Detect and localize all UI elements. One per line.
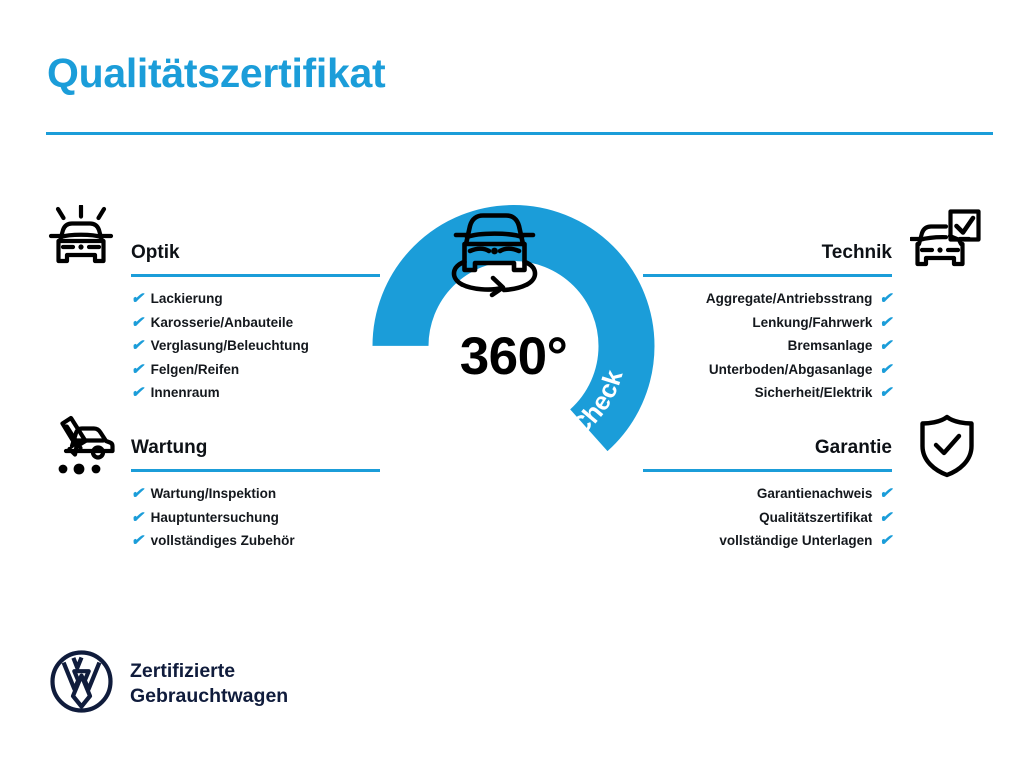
section-garantie-list: Garantienachweis ✔ Qualitätszertifikat ✔… (643, 482, 892, 553)
section-optik: Optik ✔ Lackierung ✔ Karosserie/Anbautei… (131, 239, 380, 405)
check-icon: ✔ (879, 311, 892, 335)
badge-360-check: Gebrauchtwagen-Check 360° (372, 196, 655, 496)
section-garantie: Garantie Garantienachweis ✔ Qualitätszer… (643, 434, 892, 553)
section-optik-list: ✔ Lackierung ✔ Karosserie/Anbauteile ✔ V… (131, 287, 380, 405)
section-garantie-title: Garantie (643, 434, 892, 462)
section-wartung: Wartung ✔ Wartung/Inspektion ✔ Hauptunte… (131, 434, 380, 553)
vw-logo-text-line1: Zertifizierte (130, 659, 288, 684)
list-item-label: vollständiges Zubehör (151, 529, 295, 553)
list-item-label: Hauptuntersuchung (151, 506, 279, 530)
section-optik-divider (131, 274, 380, 277)
section-technik: Technik Aggregate/Antriebsstrang ✔ Lenku… (643, 239, 892, 405)
list-item-label: Lackierung (151, 287, 223, 311)
list-item: Garantienachweis ✔ (643, 482, 892, 506)
list-item-label: vollständige Unterlagen (719, 529, 872, 553)
list-item: ✔ Lackierung (131, 287, 380, 311)
list-item: ✔ vollständiges Zubehör (131, 529, 380, 553)
car-service-pencil-icon (46, 415, 116, 479)
section-garantie-divider (643, 469, 892, 472)
vw-logo-text-line2: Gebrauchtwagen (130, 684, 288, 709)
check-icon: ✔ (879, 358, 892, 382)
list-item-label: Qualitätszertifikat (759, 506, 872, 530)
shield-check-icon (918, 414, 976, 478)
check-icon: ✔ (879, 334, 892, 358)
list-item: Unterboden/Abgasanlage ✔ (643, 358, 892, 382)
section-wartung-list: ✔ Wartung/Inspektion ✔ Hauptuntersuchung… (131, 482, 380, 553)
section-wartung-title: Wartung (131, 434, 380, 462)
section-technik-divider (643, 274, 892, 277)
list-item-label: Innenraum (151, 381, 220, 405)
check-icon: ✔ (131, 334, 144, 358)
title-divider (46, 132, 993, 135)
check-icon: ✔ (879, 287, 892, 311)
list-item-label: Wartung/Inspektion (151, 482, 277, 506)
section-wartung-divider (131, 469, 380, 472)
section-optik-header: Optik (131, 239, 380, 279)
list-item: Sicherheit/Elektrik ✔ (643, 381, 892, 405)
section-wartung-header: Wartung (131, 434, 380, 474)
list-item-label: Verglasung/Beleuchtung (151, 334, 309, 358)
list-item: ✔ Verglasung/Beleuchtung (131, 334, 380, 358)
list-item: Lenkung/Fahrwerk ✔ (643, 311, 892, 335)
list-item: ✔ Innenraum (131, 381, 380, 405)
list-item: ✔ Hauptuntersuchung (131, 506, 380, 530)
page-title: Qualitätszertifikat (47, 52, 385, 95)
list-item: ✔ Karosserie/Anbauteile (131, 311, 380, 335)
list-item: Bremsanlage ✔ (643, 334, 892, 358)
list-item-label: Felgen/Reifen (151, 358, 240, 382)
check-icon: ✔ (131, 381, 144, 405)
check-icon: ✔ (879, 482, 892, 506)
check-icon: ✔ (879, 381, 892, 405)
list-item: vollständige Unterlagen ✔ (643, 529, 892, 553)
section-technik-list: Aggregate/Antriebsstrang ✔ Lenkung/Fahrw… (643, 287, 892, 405)
list-item-label: Sicherheit/Elektrik (755, 381, 873, 405)
list-item-label: Bremsanlage (788, 334, 873, 358)
list-item-label: Aggregate/Antriebsstrang (706, 287, 873, 311)
check-icon: ✔ (131, 358, 144, 382)
section-garantie-header: Garantie (643, 434, 892, 474)
section-technik-header: Technik (643, 239, 892, 279)
section-optik-title: Optik (131, 239, 380, 267)
list-item-label: Karosserie/Anbauteile (151, 311, 294, 335)
check-icon: ✔ (879, 529, 892, 553)
list-item: ✔ Wartung/Inspektion (131, 482, 380, 506)
list-item-label: Unterboden/Abgasanlage (709, 358, 873, 382)
vw-logo (50, 650, 113, 713)
car-front-checkbox-icon (910, 208, 982, 274)
badge-center-label: 360° (460, 327, 568, 386)
vw-logo-text: Zertifizierte Gebrauchtwagen (130, 659, 288, 709)
check-icon: ✔ (879, 506, 892, 530)
list-item: Qualitätszertifikat ✔ (643, 506, 892, 530)
check-icon: ✔ (131, 529, 144, 553)
car-front-shine-icon (46, 205, 116, 271)
list-item: Aggregate/Antriebsstrang ✔ (643, 287, 892, 311)
list-item: ✔ Felgen/Reifen (131, 358, 380, 382)
section-technik-title: Technik (643, 239, 892, 267)
check-icon: ✔ (131, 287, 144, 311)
check-icon: ✔ (131, 311, 144, 335)
list-item-label: Garantienachweis (757, 482, 873, 506)
check-icon: ✔ (131, 506, 144, 530)
list-item-label: Lenkung/Fahrwerk (752, 311, 872, 335)
check-icon: ✔ (131, 482, 144, 506)
